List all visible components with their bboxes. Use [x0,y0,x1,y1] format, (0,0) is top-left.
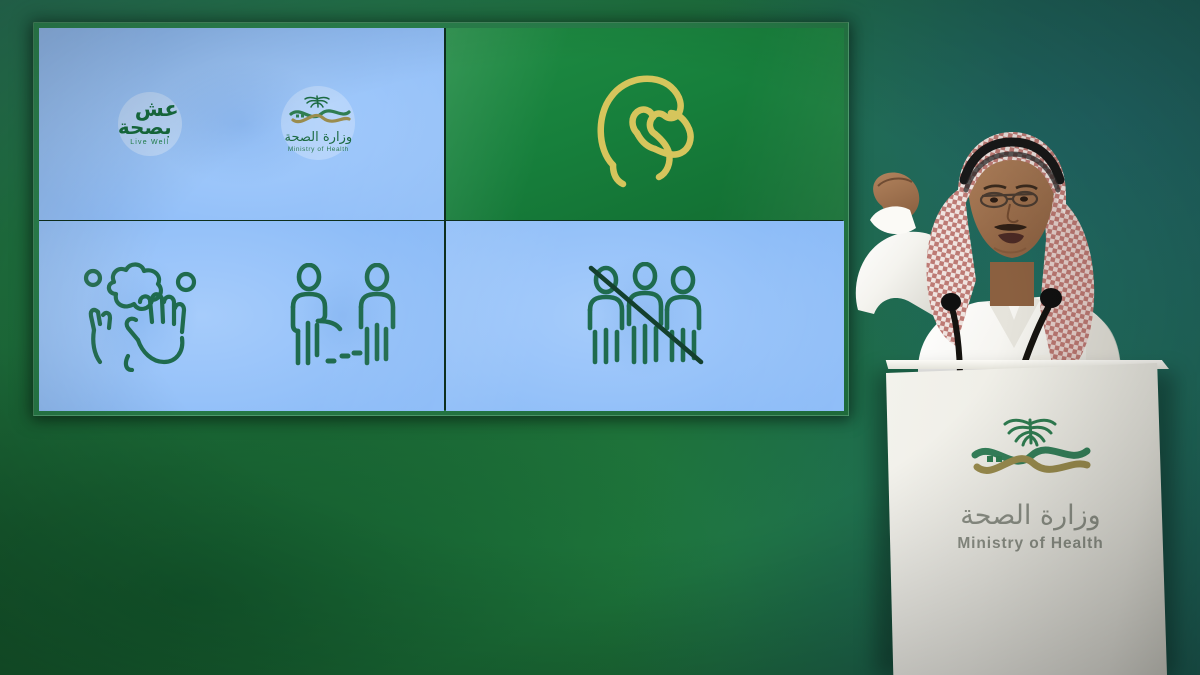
podium-logo-arabic: وزارة الصحة [960,500,1100,531]
cough-into-elbow-icon [446,28,845,220]
live-well-logo: عش بصحة Live Well [128,101,172,146]
screen-ministry-arabic: وزارة الصحة [285,130,353,145]
wall-panel-cover-cough[interactable] [446,28,845,220]
live-well-arabic-line2: بصحة [118,118,172,137]
video-wall[interactable]: عش بصحة Live Well [33,22,849,416]
palm-tree-swords-emblem-icon [957,417,1105,487]
social-distancing-icon [284,263,402,369]
screen-ministry-logo: وزارة الصحة Ministry of Health [281,95,355,153]
podium-ministry-logo: وزارة الصحة Ministry of Health [890,417,1171,553]
wall-panel-hygiene[interactable] [39,221,444,411]
social-distancing-cell[interactable] [242,263,445,369]
podium-logo-english: Ministry of Health [957,535,1103,553]
avoid-crowds-icon [579,262,711,370]
wall-panel-avoid-crowds[interactable] [446,221,845,411]
screenshot-stage: عش بصحة Live Well [0,0,1200,675]
live-well-english: Live Well [130,139,169,146]
wash-hands-cell[interactable] [39,260,242,372]
wash-hands-icon [76,260,204,372]
podium[interactable]: وزارة الصحة Ministry of Health [886,363,1167,675]
wall-panel-logos[interactable]: عش بصحة Live Well [39,28,444,220]
palm-tree-swords-emblem-icon [281,95,355,129]
screen-ministry-english: Ministry of Health [288,146,349,153]
